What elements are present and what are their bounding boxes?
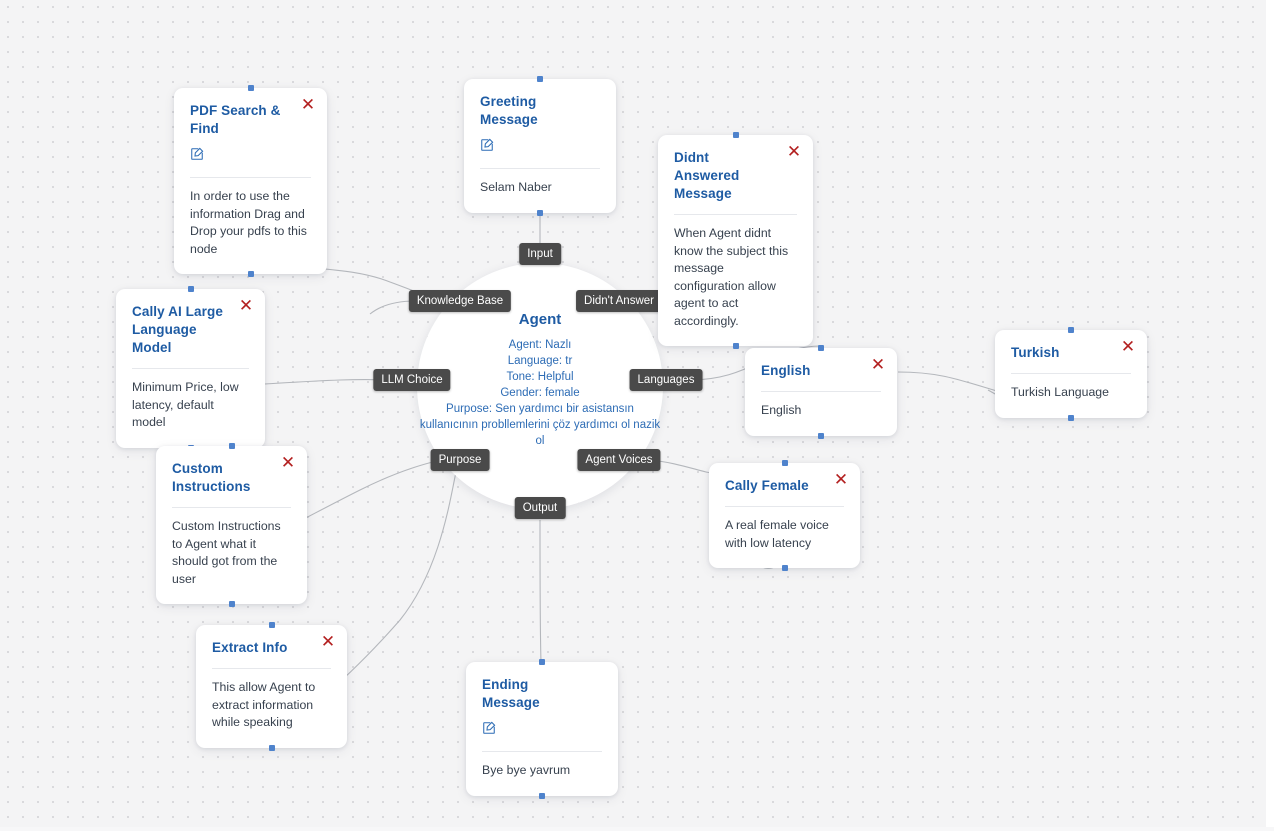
node-handle-icon[interactable]	[818, 345, 824, 351]
node-title: Extract Info	[212, 639, 331, 657]
node-handle-icon[interactable]	[537, 76, 543, 82]
divider	[1011, 373, 1131, 374]
divider	[674, 214, 797, 215]
close-icon[interactable]: ✕	[832, 471, 850, 489]
close-icon[interactable]: ✕	[237, 297, 255, 315]
node-extract-info[interactable]: ✕ Extract Info This allow Agent to extra…	[196, 625, 347, 748]
node-handle-icon[interactable]	[1068, 327, 1074, 333]
node-body: English	[761, 402, 881, 420]
node-body: Turkish Language	[1011, 384, 1131, 402]
divider	[172, 507, 291, 508]
node-title: PDF Search & Find	[190, 102, 311, 138]
port-agent-voices-label: Agent Voices	[577, 449, 660, 471]
node-body: A real female voice with low latency	[725, 517, 844, 552]
close-icon[interactable]: ✕	[1119, 338, 1137, 356]
divider	[761, 391, 881, 392]
close-icon[interactable]: ✕	[279, 454, 297, 472]
node-ending-message[interactable]: Ending Message Bye bye yavrum	[466, 662, 618, 796]
agent-title: Agent	[519, 311, 562, 328]
port-languages[interactable]: Languages	[630, 369, 703, 391]
agent-detail-agent: Agent: Nazlı	[415, 337, 665, 353]
node-handle-icon[interactable]	[248, 85, 254, 91]
node-handle-icon[interactable]	[1068, 415, 1074, 421]
node-handle-icon[interactable]	[733, 132, 739, 138]
close-icon[interactable]: ✕	[785, 143, 803, 161]
node-handle-icon[interactable]	[188, 286, 194, 292]
node-title: Cally Female	[725, 477, 844, 495]
port-llm-choice-label: LLM Choice	[373, 369, 450, 391]
node-handle-icon[interactable]	[782, 565, 788, 571]
node-pdf-search-find[interactable]: ✕ PDF Search & Find In order to use the …	[174, 88, 327, 274]
edit-icon[interactable]	[190, 147, 311, 166]
port-output[interactable]: Output	[515, 497, 566, 519]
node-handle-icon[interactable]	[229, 443, 235, 449]
node-title: Turkish	[1011, 344, 1131, 362]
node-greeting-message[interactable]: Greeting Message Selam Naber	[464, 79, 616, 213]
close-icon[interactable]: ✕	[319, 633, 337, 651]
agent-detail-purpose-3: ol	[406, 433, 674, 449]
divider	[480, 168, 600, 169]
agent-detail-gender: Gender: female	[415, 385, 665, 401]
node-title: Cally AI Large Language Model	[132, 303, 249, 357]
node-title: Didnt Answered Message	[674, 149, 797, 203]
node-cally-female[interactable]: ✕ Cally Female A real female voice with …	[709, 463, 860, 568]
node-handle-icon[interactable]	[229, 601, 235, 607]
node-body: Selam Naber	[480, 179, 600, 197]
node-handle-icon[interactable]	[782, 460, 788, 466]
flow-canvas[interactable]: Agent Agent: Nazlı Language: tr Tone: He…	[0, 0, 1274, 831]
edit-icon[interactable]	[482, 721, 602, 740]
divider	[132, 368, 249, 369]
node-english[interactable]: ✕ English English	[745, 348, 897, 436]
port-llm-choice[interactable]: LLM Choice	[373, 369, 450, 391]
port-knowledge-base[interactable]: Knowledge Base	[409, 290, 511, 312]
agent-detail-purpose-2: kullanıcının probllemlerini çöz yardımcı…	[406, 417, 674, 433]
node-body: In order to use the information Drag and…	[190, 188, 311, 258]
node-didnt-answered-message[interactable]: ✕ Didnt Answered Message When Agent didn…	[658, 135, 813, 346]
node-body: Bye bye yavrum	[482, 762, 602, 780]
node-handle-icon[interactable]	[539, 793, 545, 799]
node-body: Minimum Price, low latency, default mode…	[132, 379, 249, 432]
node-body: When Agent didnt know the subject this m…	[674, 225, 797, 330]
edit-icon[interactable]	[480, 138, 600, 157]
node-handle-icon[interactable]	[818, 433, 824, 439]
node-title: Ending Message	[482, 676, 602, 712]
divider	[190, 177, 311, 178]
node-body: Custom Instructions to Agent what it sho…	[172, 518, 291, 588]
port-didnt-answer[interactable]: Didn't Answer	[576, 290, 662, 312]
port-knowledge-base-label: Knowledge Base	[409, 290, 511, 312]
port-purpose-label: Purpose	[431, 449, 490, 471]
node-custom-instructions[interactable]: ✕ Custom Instructions Custom Instruction…	[156, 446, 307, 604]
divider	[212, 668, 331, 669]
agent-detail-tone: Tone: Helpful	[415, 369, 665, 385]
close-icon[interactable]: ✕	[299, 96, 317, 114]
node-handle-icon[interactable]	[269, 745, 275, 751]
node-title: Greeting Message	[480, 93, 600, 129]
node-handle-icon[interactable]	[248, 271, 254, 277]
node-title: Custom Instructions	[172, 460, 291, 496]
port-input[interactable]: Input	[519, 243, 561, 265]
node-handle-icon[interactable]	[269, 622, 275, 628]
canvas-bottom-gutter	[0, 827, 1274, 831]
divider	[725, 506, 844, 507]
node-turkish[interactable]: ✕ Turkish Turkish Language	[995, 330, 1147, 418]
port-output-label: Output	[515, 497, 566, 519]
node-handle-icon[interactable]	[537, 210, 543, 216]
port-didnt-answer-label: Didn't Answer	[576, 290, 662, 312]
agent-detail-purpose-1: Purpose: Sen yardımcı bir asistansın	[406, 401, 674, 417]
port-languages-label: Languages	[630, 369, 703, 391]
node-body: This allow Agent to extract information …	[212, 679, 331, 732]
node-cally-ai-llm[interactable]: ✕ Cally AI Large Language Model Minimum …	[116, 289, 265, 448]
port-purpose[interactable]: Purpose	[431, 449, 490, 471]
port-input-label: Input	[519, 243, 561, 265]
canvas-right-gutter	[1266, 0, 1274, 831]
agent-detail-language: Language: tr	[415, 353, 665, 369]
node-handle-icon[interactable]	[539, 659, 545, 665]
port-agent-voices[interactable]: Agent Voices	[577, 449, 660, 471]
divider	[482, 751, 602, 752]
node-title: English	[761, 362, 881, 380]
close-icon[interactable]: ✕	[869, 356, 887, 374]
node-handle-icon[interactable]	[733, 343, 739, 349]
edge-output-to-ending	[540, 520, 541, 662]
